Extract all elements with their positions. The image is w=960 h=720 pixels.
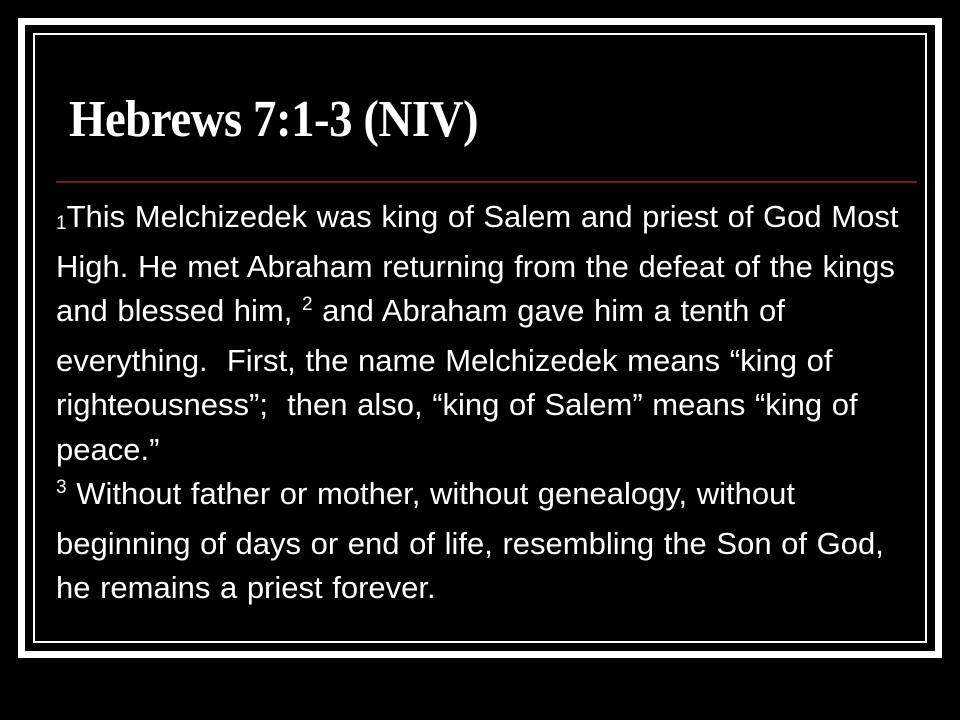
scripture-slide: Hebrews 7:1-3 (NIV) 1This Melchizedek wa…: [0, 0, 960, 720]
verse-number-2: 2: [302, 294, 313, 315]
verse-number-3: 3: [56, 477, 67, 498]
slide-title-block: Hebrews 7:1-3 (NIV): [35, 90, 925, 185]
slide-content-area: Hebrews 7:1-3 (NIV) 1This Melchizedek wa…: [35, 35, 925, 641]
scripture-body-text: 1This Melchizedek was king of Salem and …: [56, 195, 922, 611]
verse-text-3: Without father or mother, without geneal…: [56, 476, 893, 605]
title-divider-rule: [56, 181, 917, 183]
verse-number-1: 1: [56, 213, 67, 234]
page-title: Hebrews 7:1-3 (NIV): [69, 90, 478, 150]
